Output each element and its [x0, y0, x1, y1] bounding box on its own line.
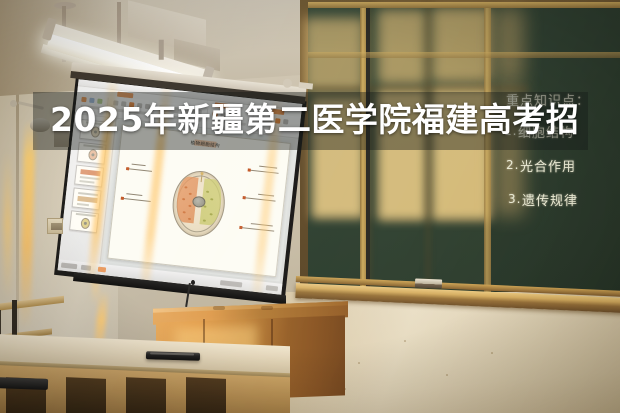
front-desk	[0, 340, 290, 413]
blackboard-item-2-number: 2.	[506, 158, 519, 172]
blackboard-item-3-text: 遗传规律	[522, 190, 578, 209]
overlay-title: 2025年新疆第二医学院福建高考招	[50, 96, 579, 144]
keyboard-icon	[0, 377, 48, 390]
sunlight-streak	[4, 150, 11, 300]
blackboard-item-3-number: 3.	[508, 192, 521, 206]
remote-control-icon	[146, 351, 200, 361]
wall-switch-icon[interactable]	[47, 218, 63, 234]
camera-mount-base	[10, 100, 17, 107]
classroom-photo: 植物细胞结构	[0, 0, 620, 413]
blackboard: 重点知识点： 1. 细胞结构 2. 光合作用 3. 遗传规律	[300, 0, 620, 324]
blackboard-item-2-text: 光合作用	[520, 156, 576, 175]
chalkboard-eraser-icon	[415, 278, 442, 288]
microphone-icon	[191, 280, 195, 285]
